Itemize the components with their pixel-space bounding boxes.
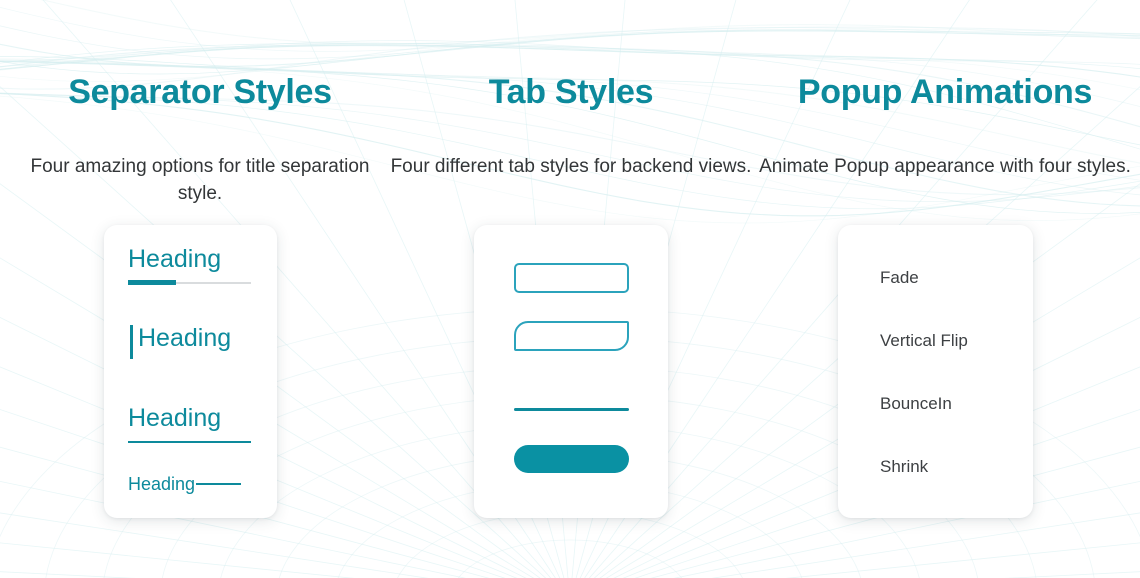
list-item-fade[interactable]: Fade	[880, 267, 919, 289]
feature-showcase: Separator Styles Four amazing options fo…	[0, 0, 1140, 578]
tab-preview-rounded-rect[interactable]	[514, 263, 629, 293]
page-title-separator-styles: Separator Styles	[10, 70, 390, 114]
subtitle-separator-styles: Four amazing options for title separatio…	[10, 153, 390, 207]
card-popup-animation-list: Fade Vertical Flip BounceIn Shrink	[838, 225, 1033, 518]
subtitle-popup-animations: Animate Popup appearance with four style…	[755, 153, 1135, 180]
separator-vertical-bar	[130, 325, 133, 359]
separator-label: Heading	[128, 244, 277, 274]
tab-preview-underline[interactable]	[514, 408, 629, 411]
list-item-bouncein[interactable]: BounceIn	[880, 393, 952, 415]
page-title-popup-animations: Popup Animations	[755, 70, 1135, 114]
list-item-shrink[interactable]: Shrink	[880, 456, 928, 478]
card-tab-previews	[474, 225, 668, 518]
subtitle-tab-styles: Four different tab styles for backend vi…	[381, 153, 761, 180]
separator-preview-underline-full[interactable]: Heading	[104, 403, 277, 433]
separator-label: Heading	[138, 323, 277, 353]
separator-preview-left-bar[interactable]: Heading	[104, 323, 277, 353]
list-item-vertical-flip[interactable]: Vertical Flip	[880, 330, 968, 352]
separator-preview-underline-split[interactable]: Heading	[104, 244, 277, 274]
separator-preview-inline-line[interactable]: Heading	[104, 473, 277, 495]
tab-preview-diagonal-corner[interactable]	[514, 321, 629, 351]
page-title-tab-styles: Tab Styles	[381, 70, 761, 114]
tab-preview-filled-pill[interactable]	[514, 445, 629, 473]
separator-rule-inline	[196, 483, 241, 485]
separator-rule-accent	[128, 280, 176, 285]
separator-label: Heading	[128, 473, 195, 495]
separator-rule-full	[128, 441, 251, 443]
separator-label: Heading	[128, 403, 277, 433]
card-separator-previews: Heading Heading Heading Heading	[104, 225, 277, 518]
